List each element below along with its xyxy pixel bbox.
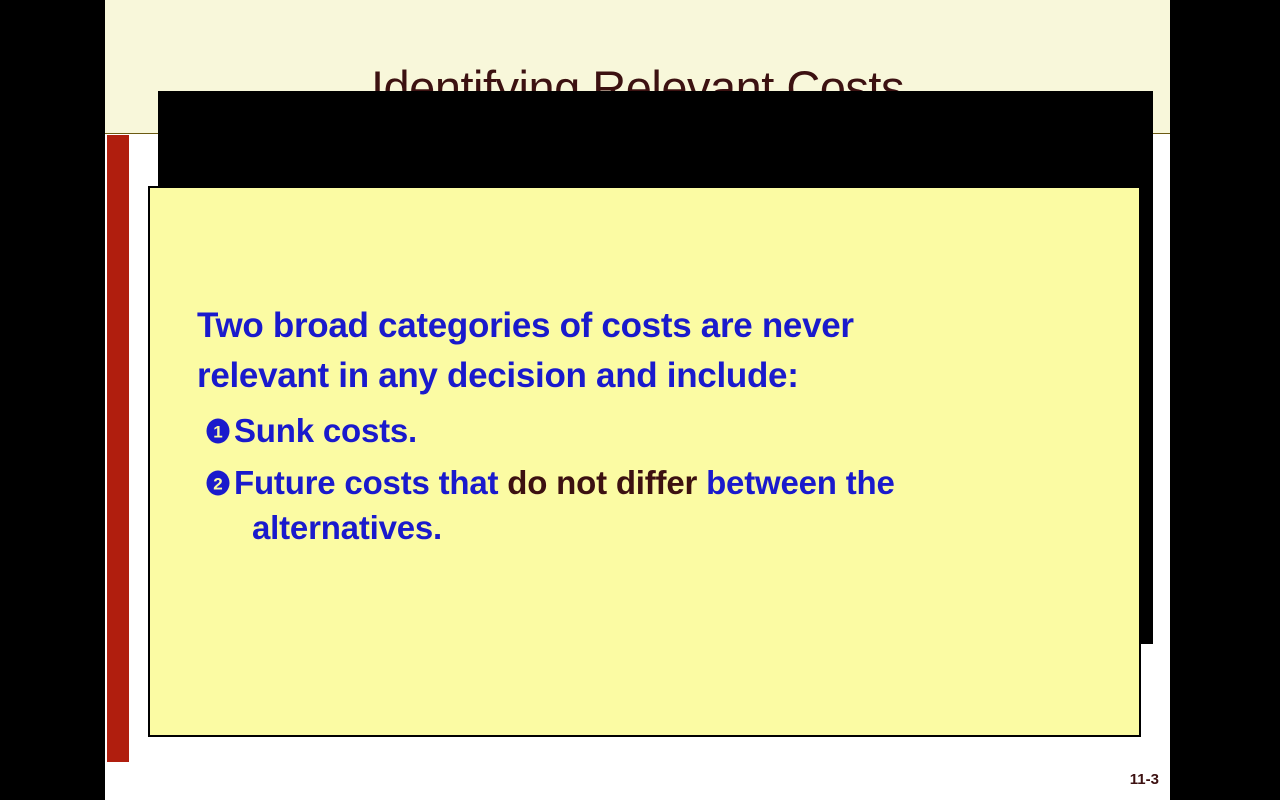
circled-number-one-icon: 1	[205, 418, 231, 444]
circled-number-two-icon: 2	[205, 470, 231, 496]
content-panel: Two broad categories of costs are never …	[148, 186, 1141, 737]
bullet-2-segment-blue-b: between the	[697, 464, 894, 501]
screenshot-root: Identifying Relevant Costs Two broad cat…	[0, 0, 1280, 800]
bullet-2-segment-blue-a: Future costs that	[234, 464, 507, 501]
body-text-block: Two broad categories of costs are never …	[197, 301, 1097, 550]
bullet-2-segment-emphasis: do not differ	[507, 464, 697, 501]
bullet-1-segment-blue: Sunk costs.	[234, 412, 417, 449]
list-item-text: Sunk costs.	[234, 408, 417, 453]
slide-canvas: Identifying Relevant Costs Two broad cat…	[105, 0, 1170, 800]
lead-line-2: relevant in any decision and include:	[197, 351, 1097, 401]
left-accent-bar	[107, 135, 129, 762]
svg-text:2: 2	[213, 475, 222, 494]
page-number: 11-3	[1130, 771, 1159, 788]
list-item: 1 Sunk costs.	[205, 408, 1097, 453]
svg-text:1: 1	[213, 423, 222, 442]
list-item-text: Future costs that do not differ between …	[234, 460, 895, 550]
list-item: 2 Future costs that do not differ betwee…	[205, 460, 1097, 550]
lead-line-1: Two broad categories of costs are never	[197, 301, 1097, 351]
bullet-2-segment-blue-c: alternatives.	[234, 505, 895, 550]
